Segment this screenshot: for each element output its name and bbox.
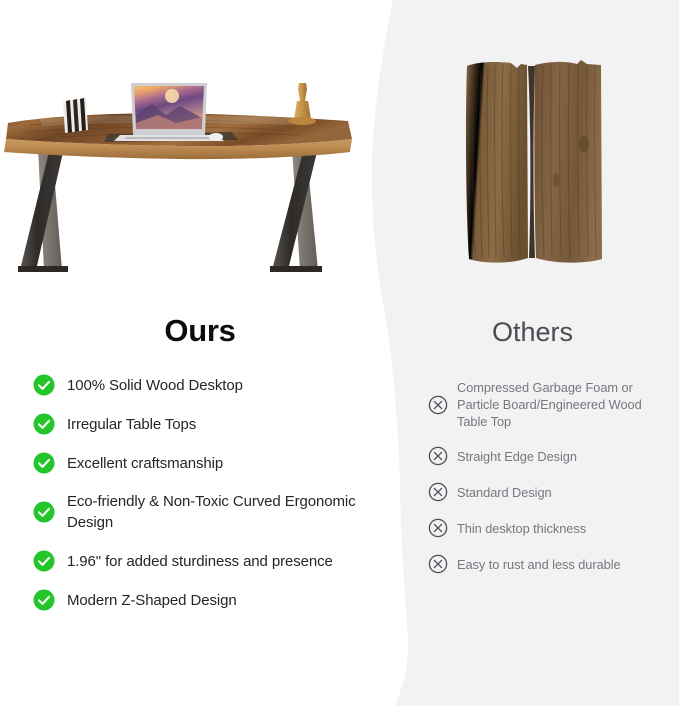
list-item-label: Thin desktop thickness [457, 520, 586, 537]
rough-wood-planks-photo [455, 52, 615, 277]
desk-leg-right [270, 148, 322, 272]
plank-seam [528, 66, 535, 258]
list-item: 1.96" for added sturdiness and presence [33, 550, 363, 572]
check-circle-icon [33, 413, 55, 435]
list-item: Straight Edge Design [428, 446, 664, 466]
check-circle-icon [33, 589, 55, 611]
list-item-label: Excellent craftsmanship [67, 453, 223, 474]
check-circle-icon [33, 374, 55, 396]
list-item: Standard Design [428, 482, 664, 502]
list-item-label: Straight Edge Design [457, 448, 577, 465]
list-item-label: Modern Z-Shaped Design [67, 590, 237, 611]
list-item: Easy to rust and less durable [428, 554, 664, 574]
check-circle-icon [33, 452, 55, 474]
comparison-infographic: Ours Others 100% Solid Wood Desktop Irre… [0, 0, 679, 706]
list-item-label: Compressed Garbage Foam or Particle Boar… [457, 379, 664, 430]
cross-circle-icon [428, 518, 448, 538]
list-item-label: Eco-friendly & Non-Toxic Curved Ergonomi… [67, 491, 363, 533]
list-item: 100% Solid Wood Desktop [33, 374, 363, 396]
ours-heading: Ours [0, 313, 400, 349]
books-stack [63, 97, 88, 133]
check-circle-icon [33, 550, 55, 572]
check-circle-icon [33, 501, 55, 523]
list-item: Irregular Table Tops [33, 413, 363, 435]
list-item: Eco-friendly & Non-Toxic Curved Ergonomi… [33, 491, 363, 533]
list-item: Modern Z-Shaped Design [33, 589, 363, 611]
chess-piece-ornament [288, 83, 316, 125]
list-item: Thin desktop thickness [428, 518, 664, 538]
others-heading: Others [400, 317, 665, 348]
mouse [209, 133, 223, 141]
list-item: Excellent craftsmanship [33, 452, 363, 474]
list-item-label: 1.96" for added sturdiness and presence [67, 551, 333, 572]
cross-circle-icon [428, 482, 448, 502]
list-item-label: Irregular Table Tops [67, 414, 196, 435]
desk-leg-left [18, 148, 68, 272]
list-item-label: 100% Solid Wood Desktop [67, 375, 243, 396]
cross-circle-icon [428, 554, 448, 574]
list-item-label: Easy to rust and less durable [457, 556, 621, 573]
list-item-label: Standard Design [457, 484, 552, 501]
list-item: Compressed Garbage Foam or Particle Boar… [428, 379, 664, 430]
cross-circle-icon [428, 446, 448, 466]
solid-wood-desk-photo [0, 55, 380, 290]
wood-knot [553, 173, 559, 187]
wood-knot [579, 136, 589, 152]
ours-feature-list: 100% Solid Wood Desktop Irregular Table … [33, 374, 363, 628]
others-feature-list: Compressed Garbage Foam or Particle Boar… [428, 379, 664, 590]
cross-circle-icon [428, 395, 448, 415]
